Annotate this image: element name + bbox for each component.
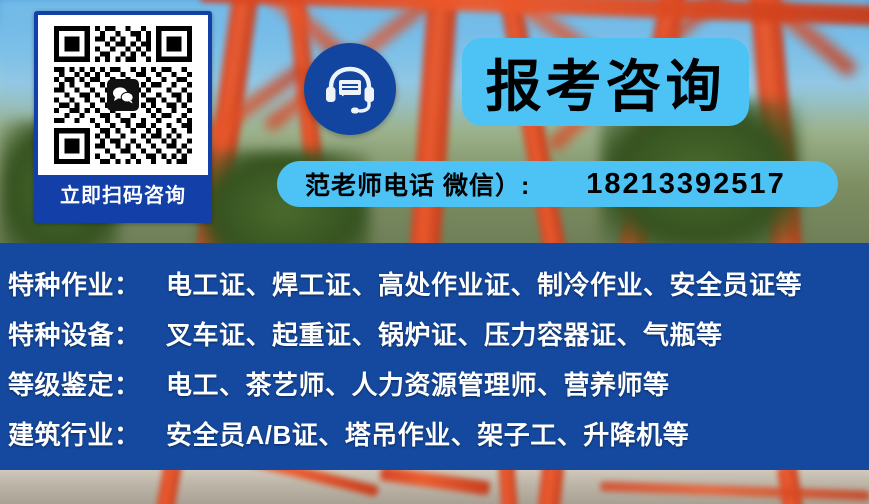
row-items: 叉车证、起重证、锅炉证、压力容器证、气瓶等 [166, 315, 723, 352]
certification-list: 特种作业： 电工证、焊工证、高处作业证、制冷作业、安全员证等 特种设备： 叉车证… [0, 243, 869, 465]
list-row: 等级鉴定： 电工、茶艺师、人力资源管理师、营养师等 [8, 365, 869, 415]
certification-list-banner: 特种作业： 电工证、焊工证、高处作业证、制冷作业、安全员证等 特种设备： 叉车证… [0, 243, 869, 470]
consult-title-pill[interactable]: 报考咨询 [462, 38, 749, 126]
wechat-icon [107, 79, 139, 111]
row-items: 安全员A/B证、塔吊作业、架子工、升降机等 [166, 415, 689, 452]
headset-glyph [321, 60, 379, 118]
headset-support-icon [304, 43, 396, 135]
poster-root: 立即扫码咨询 报考咨询 范老师电话 微信）: 18213392517 特种作业：… [0, 0, 869, 504]
list-row: 特种作业： 电工证、焊工证、高处作业证、制冷作业、安全员证等 [8, 265, 869, 315]
row-category: 特种设备： [8, 315, 148, 352]
contact-phone-pill[interactable]: 范老师电话 微信）: 18213392517 [277, 161, 838, 207]
contact-label: 范老师电话 微信）: [305, 166, 530, 202]
list-row: 特种设备： 叉车证、起重证、锅炉证、压力容器证、气瓶等 [8, 315, 869, 365]
row-items: 电工证、焊工证、高处作业证、制冷作业、安全员证等 [166, 265, 802, 302]
row-category: 建筑行业： [8, 415, 148, 452]
qr-code-card[interactable]: 立即扫码咨询 [34, 11, 212, 223]
qr-caption: 立即扫码咨询 [38, 175, 208, 217]
row-category: 等级鉴定： [8, 365, 148, 402]
consult-title-text: 报考咨询 [486, 42, 726, 123]
list-row: 建筑行业： 安全员A/B证、塔吊作业、架子工、升降机等 [8, 415, 869, 465]
row-items: 电工、茶艺师、人力资源管理师、营养师等 [166, 365, 670, 402]
contact-phone-number[interactable]: 18213392517 [586, 168, 785, 201]
qr-code-image[interactable] [38, 15, 208, 175]
row-category: 特种作业： [8, 265, 148, 302]
background-photo-bottom [0, 470, 869, 504]
